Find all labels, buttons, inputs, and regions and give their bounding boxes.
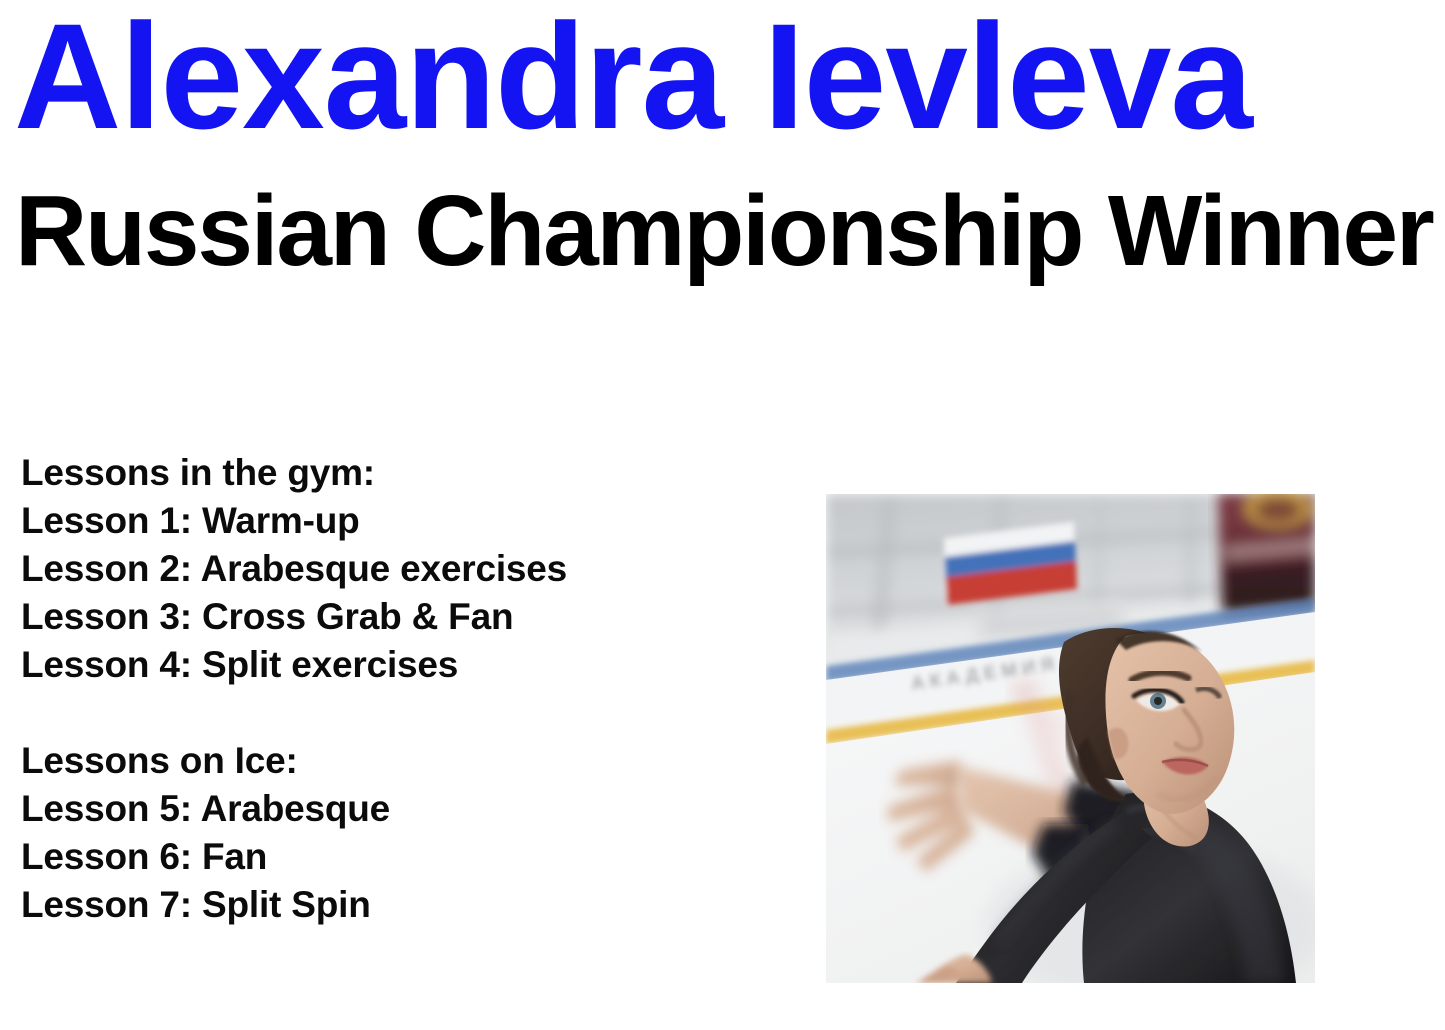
lesson-group-gym: Lessons in the gym: Lesson 1: Warm-up Le… (21, 449, 781, 689)
lesson-group-ice-heading: Lessons on Ice: (21, 737, 781, 785)
list-item: Lesson 2: Arabesque exercises (21, 545, 781, 593)
skater-photo-image: АКАДЕМИЯ (826, 494, 1315, 983)
list-item: Lesson 4: Split exercises (21, 641, 781, 689)
page-title: Alexandra Ievleva (14, 0, 1252, 156)
lesson-group-gym-heading: Lessons in the gym: (21, 449, 781, 497)
list-item: Lesson 7: Split Spin (21, 881, 781, 929)
lesson-lists: Lessons in the gym: Lesson 1: Warm-up Le… (21, 449, 781, 929)
list-item: Lesson 6: Fan (21, 833, 781, 881)
list-item: Lesson 5: Arabesque (21, 785, 781, 833)
page-subtitle: Russian Championship Winner (15, 175, 1433, 287)
skater-photo-svg: АКАДЕМИЯ (826, 494, 1315, 983)
list-item: Lesson 3: Cross Grab & Fan (21, 593, 781, 641)
lesson-group-ice: Lessons on Ice: Lesson 5: Arabesque Less… (21, 737, 781, 929)
skater-photo: АКАДЕМИЯ (826, 494, 1315, 983)
list-item: Lesson 1: Warm-up (21, 497, 781, 545)
